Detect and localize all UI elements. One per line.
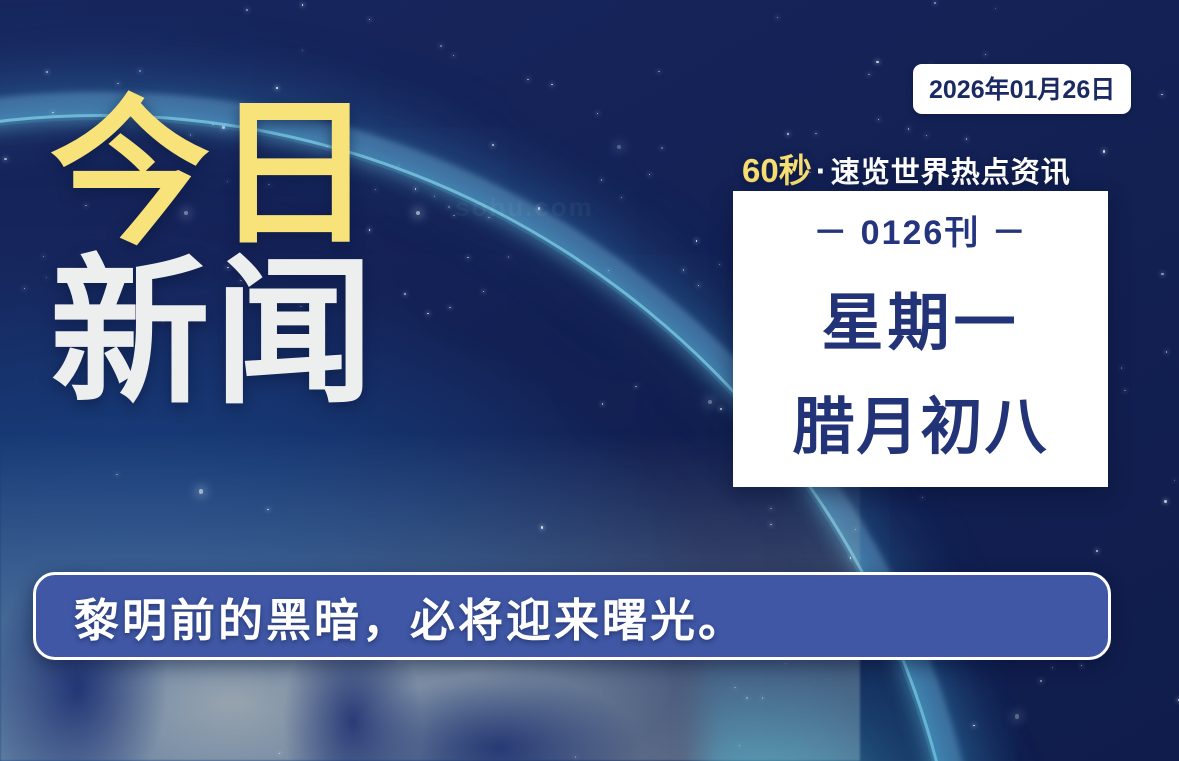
tagline-separator: · bbox=[816, 152, 827, 189]
issue-number: － 0126刊 － bbox=[813, 205, 1028, 254]
news-poster: sohu.com 今日 新闻 2026年01月26日 60秒·速览世界热点资讯 … bbox=[0, 0, 1179, 761]
lunar-date-label: 腊月初八 bbox=[792, 376, 1048, 466]
weekday-label: 星期一 bbox=[821, 272, 1019, 362]
tagline-seconds: 60秒 bbox=[742, 152, 812, 189]
watermark-text: sohu.com bbox=[455, 192, 594, 223]
page-title-line1: 今日 bbox=[50, 100, 378, 247]
tagline-description: 速览世界热点资讯 bbox=[831, 157, 1071, 189]
info-card: － 0126刊 － 星期一 腊月初八 bbox=[733, 191, 1108, 487]
tagline: 60秒·速览世界热点资讯 bbox=[742, 144, 1071, 192]
page-title: 今日 新闻 bbox=[50, 100, 378, 406]
date-badge: 2026年01月26日 bbox=[913, 64, 1131, 114]
quote-text: 黎明前的黑暗，必将迎来曙光。 bbox=[74, 584, 746, 649]
page-title-line2: 新闻 bbox=[50, 259, 378, 406]
quote-bar: 黎明前的黑暗，必将迎来曙光。 bbox=[33, 572, 1111, 660]
